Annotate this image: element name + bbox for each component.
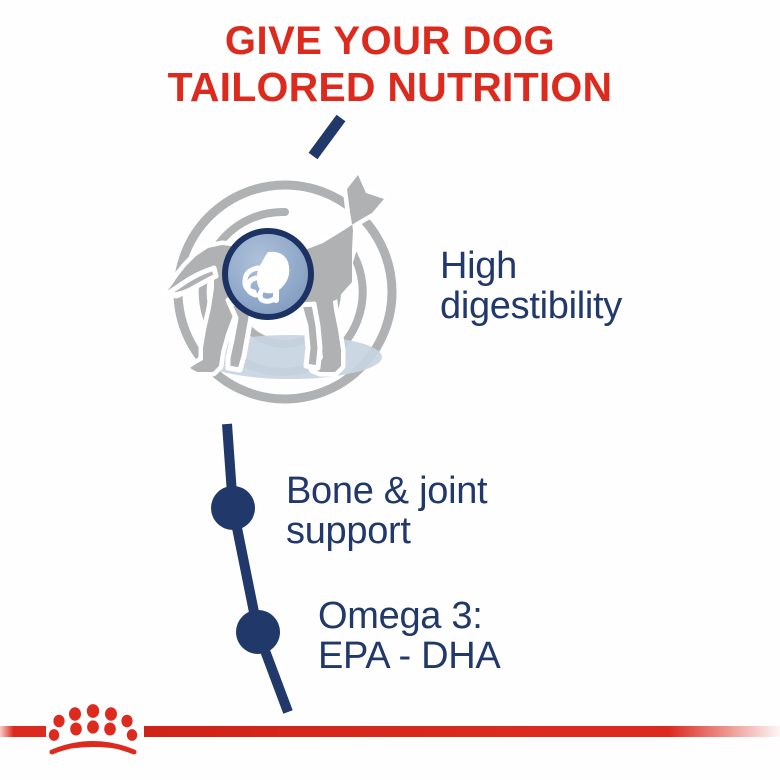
footer-bar-right — [144, 726, 780, 737]
feature-high-line-1: High — [440, 246, 622, 286]
feature-label-high-digestibility: High digestibility — [440, 246, 622, 326]
feature-label-omega-3: Omega 3: EPA - DHA — [318, 596, 500, 676]
connector-lead-segment — [313, 118, 341, 156]
feature-omega-line-2: EPA - DHA — [318, 636, 500, 676]
connector-line — [211, 424, 288, 712]
digestion-highlight-circle — [225, 231, 311, 317]
feature-label-bone-joint-support: Bone & joint support — [286, 471, 487, 551]
connector-dot-bone — [211, 486, 255, 530]
feature-bone-line-1: Bone & joint — [286, 471, 487, 511]
royal-canin-crown-logo — [49, 704, 137, 752]
poster-canvas: GIVE YOUR DOG TAILORED NUTRITION — [0, 0, 780, 780]
footer-bar-left — [0, 726, 46, 737]
feature-high-line-2: digestibility — [440, 286, 622, 326]
feature-omega-line-1: Omega 3: — [318, 596, 500, 636]
feature-bone-line-2: support — [286, 511, 487, 551]
connector-dot-omega — [236, 610, 280, 654]
footer-brand-bar — [0, 690, 780, 780]
